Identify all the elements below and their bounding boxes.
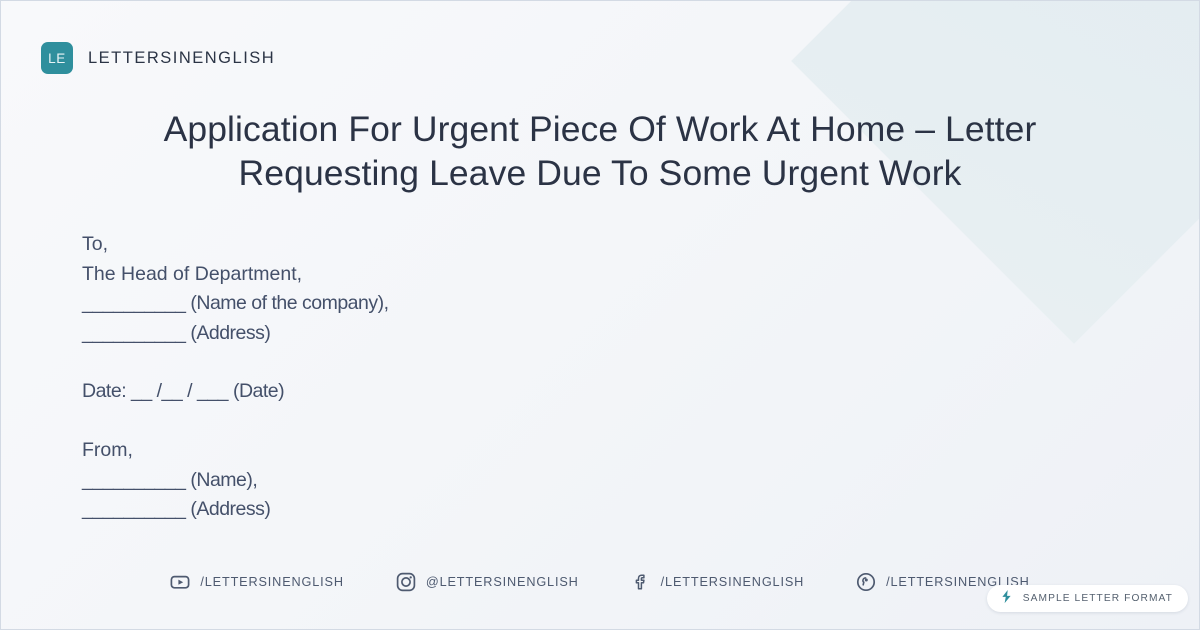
brand-name: LETTERSINENGLISH <box>88 49 275 68</box>
letter-sender-name-line: __________ (Name), <box>82 466 389 496</box>
social-handle: /LETTERSINENGLISH <box>661 575 804 589</box>
sample-letter-format-badge[interactable]: SAMPLE LETTER FORMAT <box>987 585 1188 612</box>
social-link-youtube[interactable]: /LETTERSINENGLISH <box>170 572 343 592</box>
instagram-icon <box>396 572 416 592</box>
letter-salutation: To, <box>82 230 389 260</box>
letter-body: To, The Head of Department, __________ (… <box>82 230 389 525</box>
letter-from-label: From, <box>82 436 389 466</box>
pinterest-icon <box>856 572 876 592</box>
letter-company-line: __________ (Name of the company), <box>82 289 389 319</box>
social-link-facebook[interactable]: /LETTERSINENGLISH <box>631 572 804 592</box>
letter-sender-address-line: __________ (Address) <box>82 495 389 525</box>
letter-recipient: The Head of Department, <box>82 260 389 290</box>
spacer <box>82 348 389 377</box>
brand-monogram: LE <box>41 42 73 74</box>
social-handle: @LETTERSINENGLISH <box>426 575 579 589</box>
letter-template-card: LE LETTERSINENGLISH Application For Urge… <box>0 0 1200 630</box>
spacer <box>82 407 389 436</box>
lightning-bolt-icon <box>999 589 1014 609</box>
letter-date-line: Date: __ /__ / ___ (Date) <box>82 377 389 407</box>
page-title: Application For Urgent Piece Of Work At … <box>81 107 1119 196</box>
brand-logo[interactable]: LE LETTERSINENGLISH <box>41 42 275 74</box>
social-handle: /LETTERSINENGLISH <box>200 575 343 589</box>
social-link-instagram[interactable]: @LETTERSINENGLISH <box>396 572 579 592</box>
facebook-icon <box>631 572 651 592</box>
youtube-icon <box>170 572 190 592</box>
badge-label: SAMPLE LETTER FORMAT <box>1023 593 1173 604</box>
letter-address-line: __________ (Address) <box>82 319 389 349</box>
